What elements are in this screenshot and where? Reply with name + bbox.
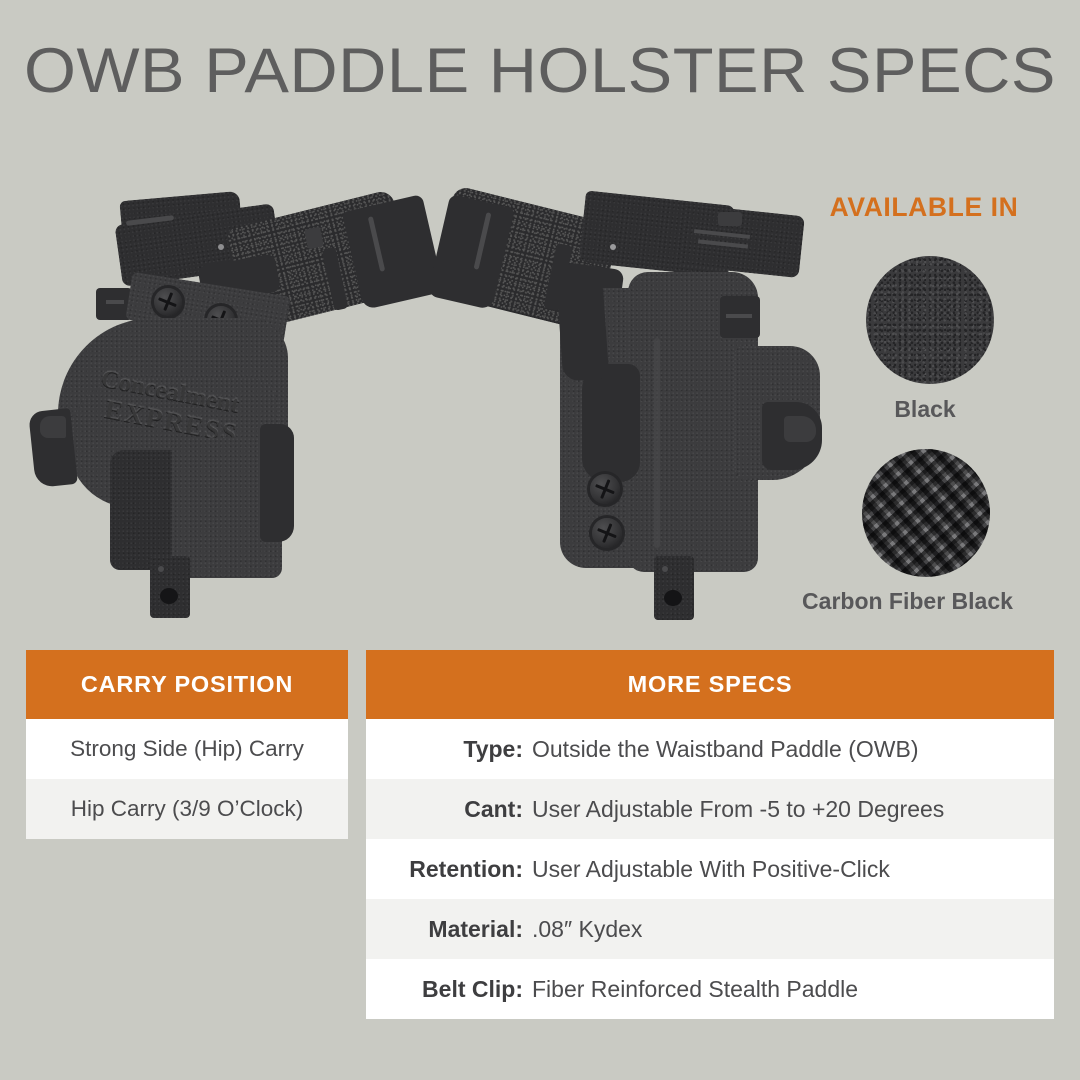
page-title: OWB PADDLE HOLSTER SPECS [0,38,1080,104]
carry-position-table: CARRY POSITION Strong Side (Hip) Carry H… [26,650,348,839]
spec-value: User Adjustable From -5 to +20 Degrees [532,796,944,823]
retention-screw-icon [592,518,622,548]
spec-row-material: Material: .08″ Kydex [366,899,1054,959]
color-swatch-black[interactable] [866,256,994,384]
spec-label: Belt Clip: [366,976,532,1003]
more-specs-table: MORE SPECS Type: Outside the Waistband P… [366,650,1054,1019]
carry-position-row: Hip Carry (3/9 O’Clock) [26,779,348,839]
retention-screw-icon [154,288,182,316]
more-specs-header: MORE SPECS [366,650,1054,719]
spec-row-retention: Retention: User Adjustable With Positive… [366,839,1054,899]
spec-label: Material: [366,916,532,943]
spec-value: Outside the Waistband Paddle (OWB) [532,736,919,763]
spec-label: Type: [366,736,532,763]
available-in-heading: AVAILABLE IN [778,192,1070,223]
title-block: OWB PADDLE HOLSTER SPECS [0,38,1080,104]
spec-value: Fiber Reinforced Stealth Paddle [532,976,858,1003]
spec-value: .08″ Kydex [532,916,642,943]
spec-label: Retention: [366,856,532,883]
carry-position-header: CARRY POSITION [26,650,348,719]
color-swatch-carbon-fiber-black[interactable] [862,449,990,577]
color-swatch-black-label: Black [760,396,1080,423]
carry-position-row: Strong Side (Hip) Carry [26,719,348,779]
spec-row-belt-clip: Belt Clip: Fiber Reinforced Stealth Padd… [366,959,1054,1019]
color-swatch-carbon-fiber-black-label: Carbon Fiber Black [735,588,1080,615]
spec-row-type: Type: Outside the Waistband Paddle (OWB) [366,719,1054,779]
available-in-block: AVAILABLE IN [760,192,1070,223]
spec-value: User Adjustable With Positive-Click [532,856,890,883]
spec-row-cant: Cant: User Adjustable From -5 to +20 Deg… [366,779,1054,839]
retention-screw-icon [590,474,620,504]
holster-front-view-image: Concealment EXPRESS [22,188,432,628]
spec-label: Cant: [366,796,532,823]
